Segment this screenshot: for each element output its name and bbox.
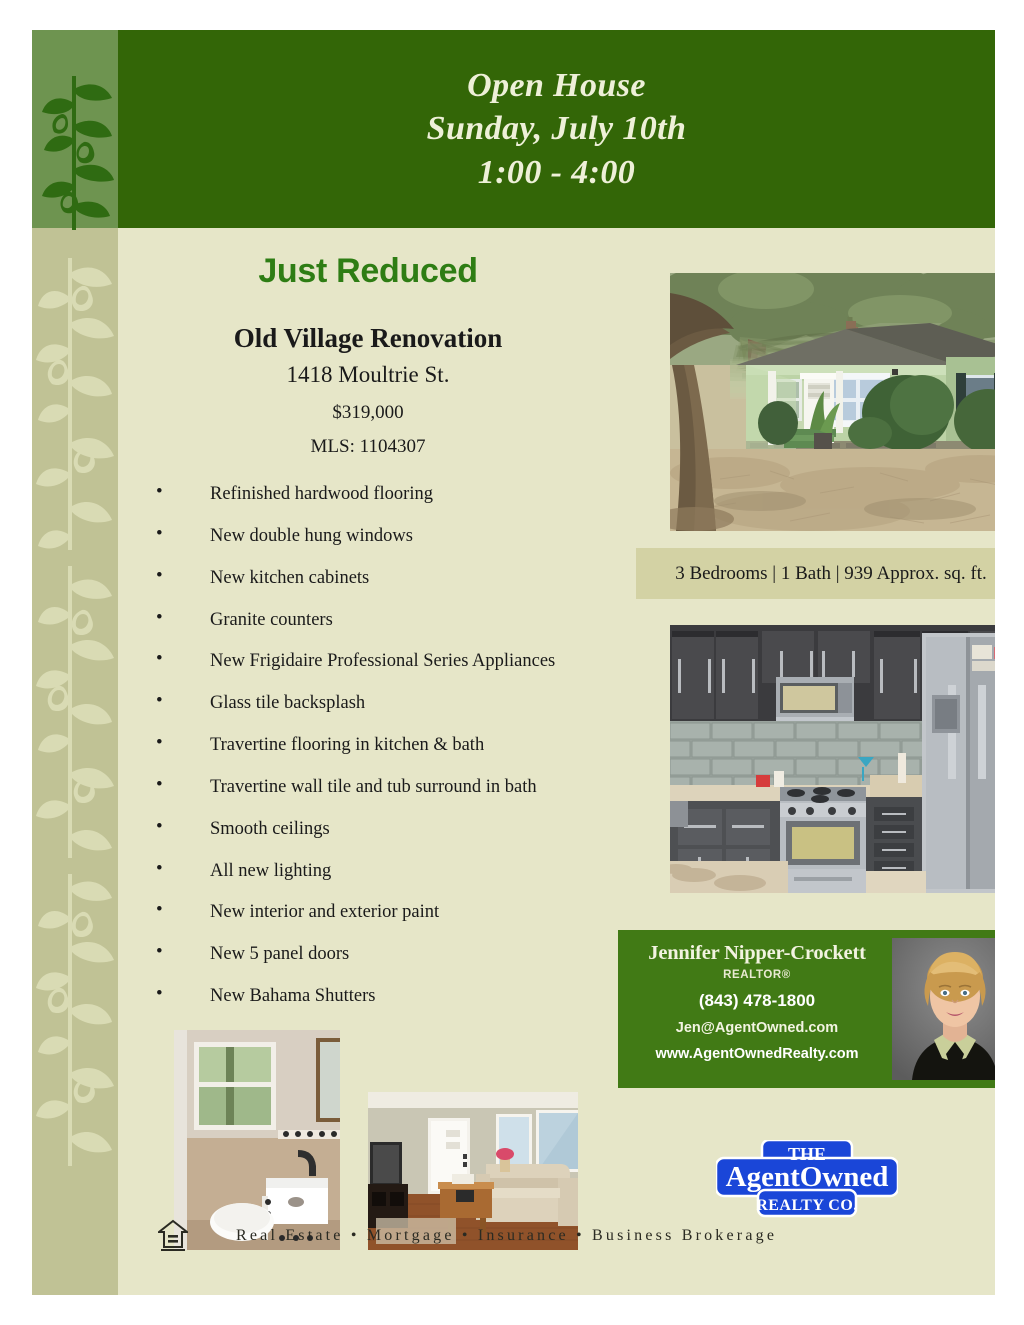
list-item: New 5 panel doors xyxy=(156,944,618,964)
feature-list: Refinished hardwood flooring New double … xyxy=(118,484,618,1006)
list-item: New Frigidaire Professional Series Appli… xyxy=(156,651,618,671)
decorative-side-rail xyxy=(32,30,118,1295)
equal-housing-opportunity-icon xyxy=(158,1219,188,1253)
list-item: New kitchen cabinets xyxy=(156,568,618,588)
list-item: Travertine flooring in kitchen & bath xyxy=(156,735,618,755)
vine-ornament-icon xyxy=(32,868,118,1168)
agent-headshot xyxy=(892,938,995,1080)
exterior-photo xyxy=(670,273,995,531)
kitchen-photo xyxy=(670,625,995,893)
list-item: New interior and exterior paint xyxy=(156,902,618,922)
footer: Real Estate • Mortgage • Insurance • Bus… xyxy=(118,1219,995,1263)
agent-phone[interactable]: (843) 478-1800 xyxy=(626,991,888,1011)
agentowned-logo: THE AgentOwned REALTY CO. xyxy=(716,1140,898,1218)
list-item: Smooth ceilings xyxy=(156,819,618,839)
vine-ornament-icon xyxy=(32,560,118,860)
flyer-page: Open House Sunday, July 10th 1:00 - 4:00… xyxy=(32,30,995,1295)
agent-email[interactable]: Jen@AgentOwned.com xyxy=(626,1020,888,1036)
header-line-1: Open House xyxy=(427,64,687,108)
header-line-3: 1:00 - 4:00 xyxy=(427,151,687,195)
list-item: Refinished hardwood flooring xyxy=(156,484,618,504)
list-item: All new lighting xyxy=(156,861,618,881)
vine-ornament-icon xyxy=(32,72,118,232)
list-item: New Bahama Shutters xyxy=(156,986,618,1006)
list-item: New double hung windows xyxy=(156,526,618,546)
vine-ornament-icon xyxy=(32,252,118,552)
agent-name: Jennifer Nipper-Crockett xyxy=(626,942,888,965)
bathroom-photo xyxy=(174,1030,340,1250)
property-address: 1418 Moultrie St. xyxy=(118,362,618,388)
list-item: Travertine wall tile and tub surround in… xyxy=(156,777,618,797)
property-specs-bar: 3 Bedrooms | 1 Bath | 939 Approx. sq. ft… xyxy=(636,548,995,599)
agent-contact-card: Jennifer Nipper-Crockett REALTOR® (843) … xyxy=(618,930,995,1088)
list-item: Glass tile backsplash xyxy=(156,693,618,713)
list-item: Granite counters xyxy=(156,610,618,630)
agent-info-block: Jennifer Nipper-Crockett REALTOR® (843) … xyxy=(626,942,888,1062)
agent-role: REALTOR® xyxy=(626,969,888,981)
agent-website[interactable]: www.AgentOwnedRealty.com xyxy=(626,1046,888,1062)
just-reduced-banner: Just Reduced xyxy=(118,252,618,291)
property-mls: MLS: 1104307 xyxy=(118,436,618,458)
left-content-column: Just Reduced Old Village Renovation 1418… xyxy=(118,228,618,1028)
header-text-block: Open House Sunday, July 10th 1:00 - 4:00 xyxy=(427,64,687,195)
open-house-header: Open House Sunday, July 10th 1:00 - 4:00 xyxy=(118,30,995,228)
property-price: $319,000 xyxy=(118,402,618,424)
property-title: Old Village Renovation xyxy=(118,323,618,354)
logo-middle-text: AgentOwned xyxy=(726,1161,889,1193)
header-line-2: Sunday, July 10th xyxy=(427,107,687,151)
logo-bottom-text: REALTY CO. xyxy=(756,1197,858,1214)
footer-services-text: Real Estate • Mortgage • Insurance • Bus… xyxy=(236,1227,777,1245)
